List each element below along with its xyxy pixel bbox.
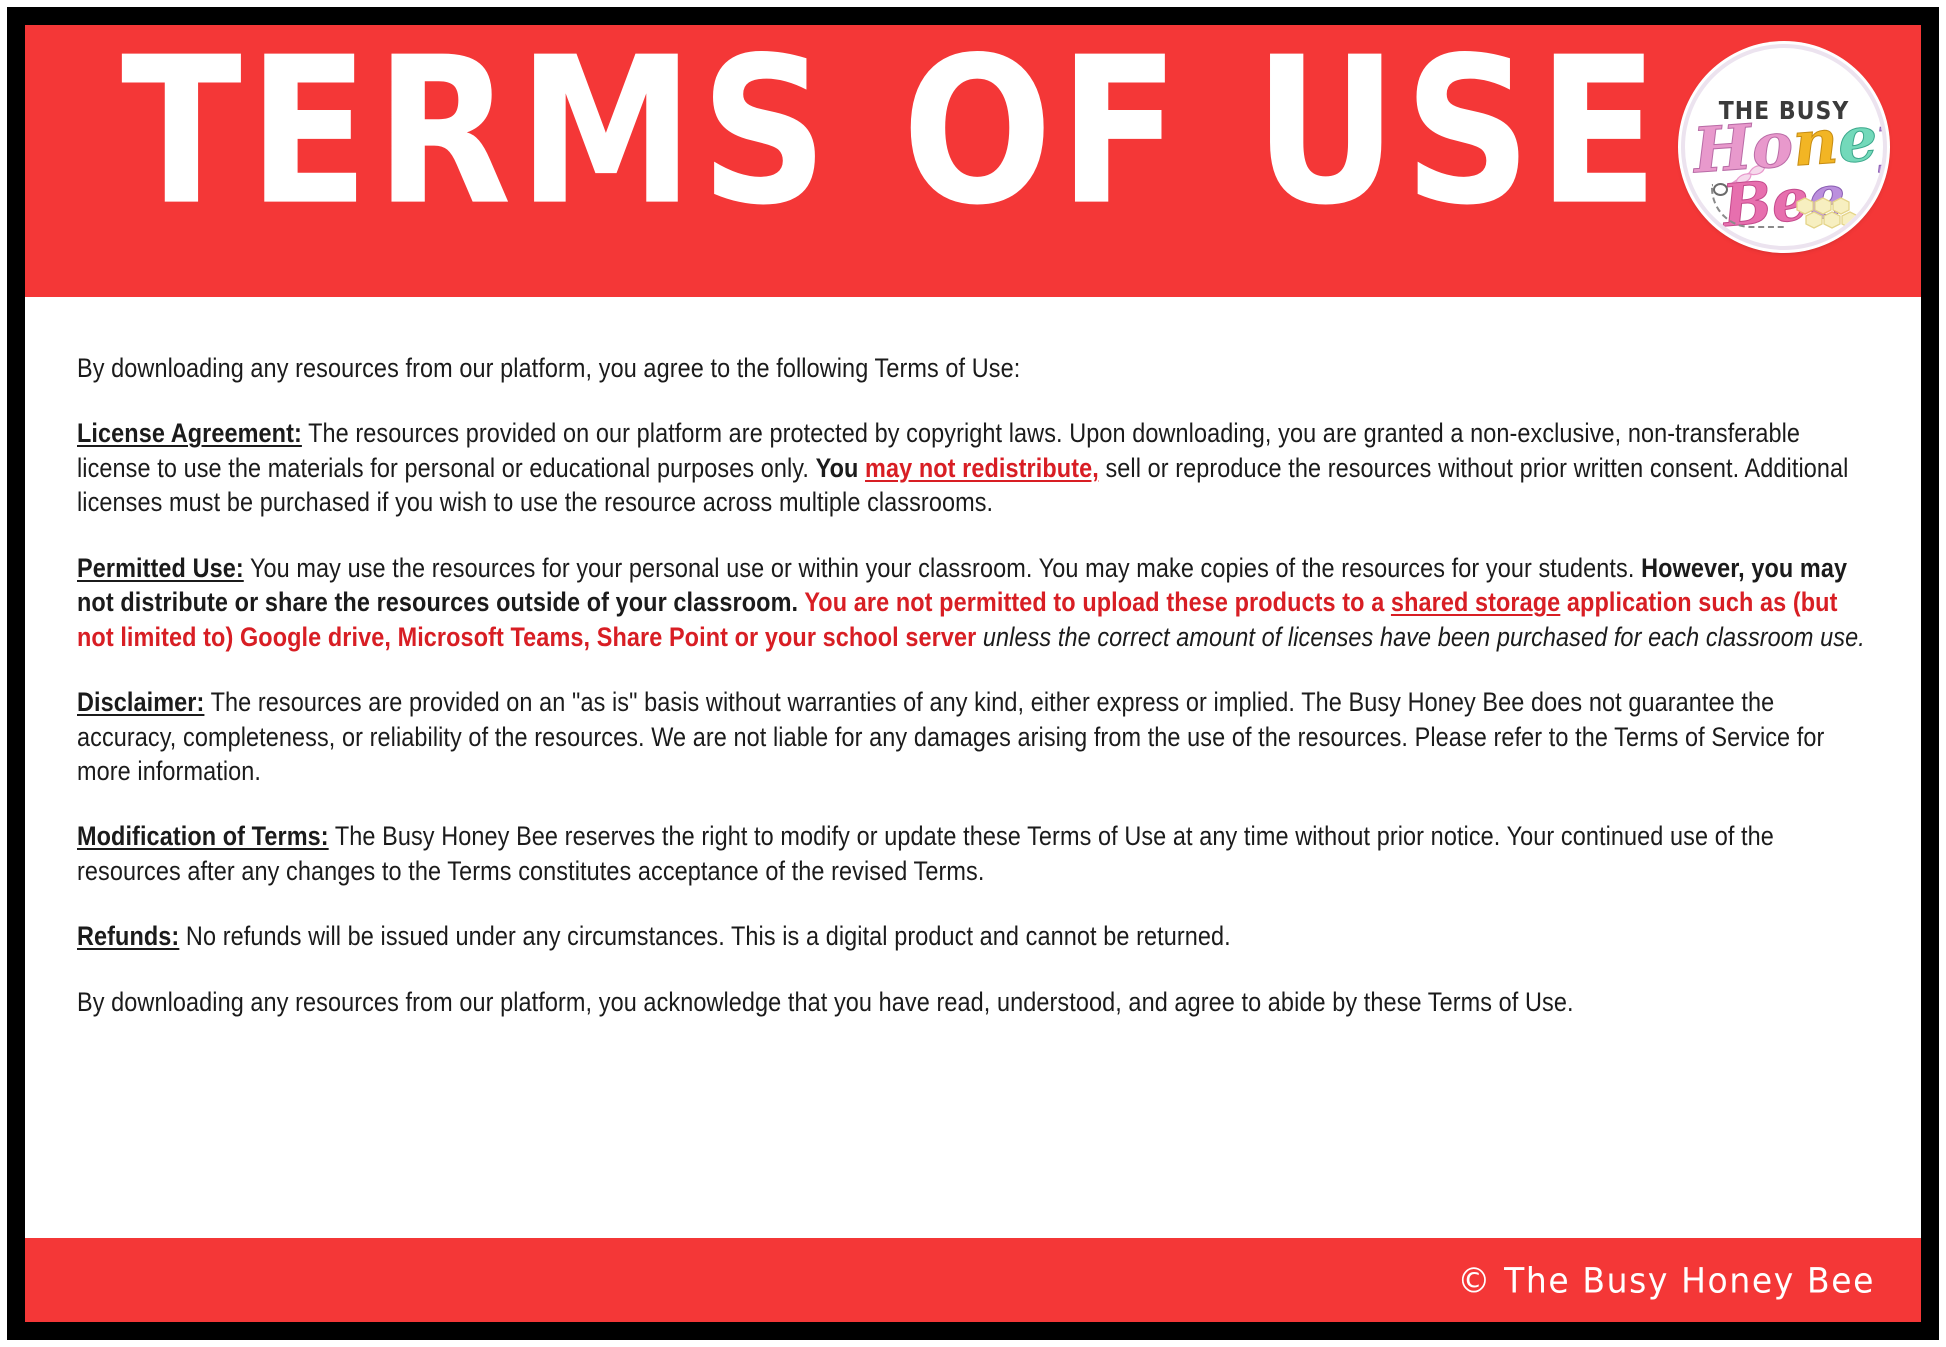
paragraph-closing: By downloading any resources from our pl… bbox=[77, 985, 1871, 1019]
paragraph-modification: Modification of Terms: The Busy Honey Be… bbox=[77, 819, 1871, 888]
modification-heading: Modification of Terms: bbox=[77, 821, 329, 851]
page-frame-border: TERMS OF USE THE BUSY Honey Bee bbox=[7, 7, 1939, 1340]
page-title-wrapper: TERMS OF USE bbox=[121, 53, 1371, 211]
paragraph-permitted-use: Permitted Use: You may use the resources… bbox=[77, 551, 1871, 654]
modification-text: The Busy Honey Bee reserves the right to… bbox=[77, 821, 1774, 885]
permitted-red-1: You are not permitted to upload these pr… bbox=[804, 587, 1391, 617]
paragraph-refunds: Refunds: No refunds will be issued under… bbox=[77, 919, 1871, 953]
license-red-underline: may not redistribute, bbox=[865, 453, 1099, 483]
footer-banner: © The Busy Honey Bee bbox=[25, 1238, 1921, 1322]
disclaimer-heading: Disclaimer: bbox=[77, 687, 204, 717]
logo-inner: THE BUSY Honey Bee bbox=[1685, 48, 1883, 246]
refunds-text: No refunds will be issued under any circ… bbox=[179, 921, 1230, 951]
disclaimer-text: The resources are provided on an "as is"… bbox=[77, 687, 1824, 786]
footer-copyright: © The Busy Honey Bee bbox=[1457, 1259, 1875, 1300]
paragraph-license: License Agreement: The resources provide… bbox=[77, 416, 1871, 519]
permitted-italic-1: unless the correct amount of licenses ha… bbox=[983, 622, 1865, 652]
permitted-red-underline: shared storage bbox=[1391, 587, 1560, 617]
license-bold-you: You bbox=[816, 453, 865, 483]
terms-of-use-page: TERMS OF USE THE BUSY Honey Bee bbox=[0, 0, 1946, 1347]
closing-text: By downloading any resources from our pl… bbox=[77, 987, 1574, 1017]
honeycomb-icon bbox=[1787, 196, 1861, 236]
paragraph-intro: By downloading any resources from our pl… bbox=[77, 351, 1871, 385]
paragraph-disclaimer: Disclaimer: The resources are provided o… bbox=[77, 685, 1871, 788]
brand-logo-badge: THE BUSY Honey Bee bbox=[1681, 44, 1887, 250]
license-heading: License Agreement: bbox=[77, 418, 302, 448]
header-banner: TERMS OF USE THE BUSY Honey Bee bbox=[25, 25, 1921, 297]
page-title: TERMS OF USE bbox=[121, 39, 1665, 226]
intro-text: By downloading any resources from our pl… bbox=[77, 353, 1020, 383]
permitted-text-1: You may use the resources for your perso… bbox=[244, 553, 1641, 583]
refunds-heading: Refunds: bbox=[77, 921, 179, 951]
bee-icon bbox=[1713, 183, 1728, 196]
permitted-heading: Permitted Use: bbox=[77, 553, 244, 583]
logo-honey-letter: e bbox=[1836, 108, 1880, 173]
terms-content: By downloading any resources from our pl… bbox=[25, 297, 1921, 1238]
